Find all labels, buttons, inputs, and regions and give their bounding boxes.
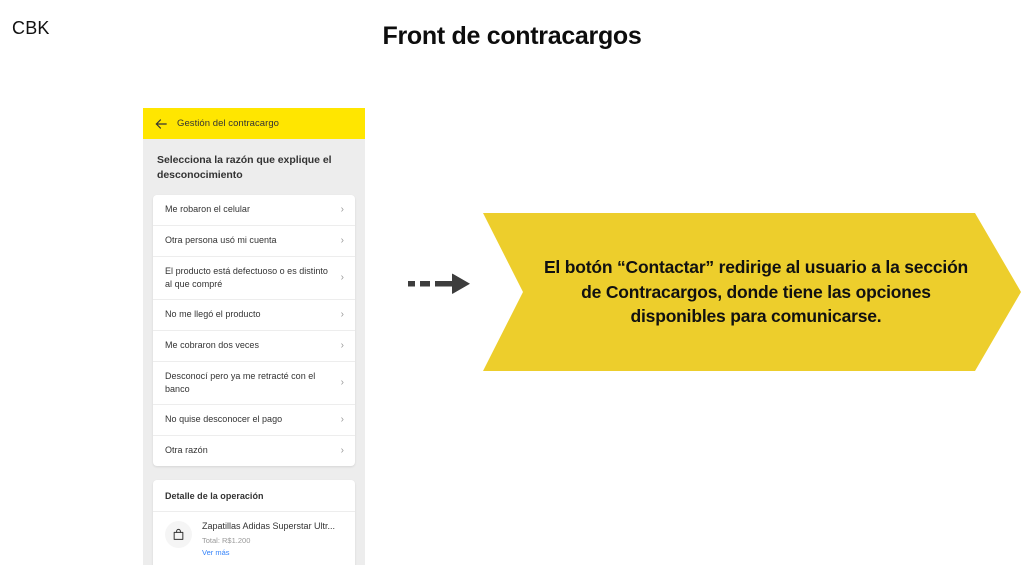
reason-label: No me llegó el producto [165, 308, 269, 321]
reason-label: Otra persona usó mi cuenta [165, 234, 285, 247]
reason-row[interactable]: No quise desconocer el pago › [153, 405, 355, 436]
shopping-bag-icon [172, 528, 185, 541]
item-thumbnail [165, 521, 192, 548]
operation-item-row[interactable]: Zapatillas Adidas Superstar Ultr... Tota… [153, 512, 355, 565]
item-name: Zapatillas Adidas Superstar Ultr... [202, 521, 335, 533]
item-texts: Zapatillas Adidas Superstar Ultr... Tota… [202, 521, 335, 558]
reason-row[interactable]: Me cobraron dos veces › [153, 331, 355, 362]
operation-detail-title: Detalle de la operación [153, 480, 355, 512]
reason-row[interactable]: Otra persona usó mi cuenta › [153, 226, 355, 257]
reason-label: Me cobraron dos veces [165, 339, 267, 352]
reason-row[interactable]: Me robaron el celular › [153, 195, 355, 226]
reason-question: Selecciona la razón que explique el desc… [143, 139, 365, 195]
dashed-arrow-right-icon [408, 272, 480, 296]
reasons-card: Me robaron el celular › Otra persona usó… [153, 195, 355, 466]
chevron-right-icon: › [341, 205, 344, 215]
phone-app-header: Gestión del contracargo [143, 108, 365, 139]
page-title: Front de contracargos [0, 22, 1024, 51]
phone-mockup: Gestión del contracargo Selecciona la ra… [143, 108, 365, 565]
see-more-link[interactable]: Ver más [202, 548, 335, 558]
reason-label: Me robaron el celular [165, 203, 258, 216]
reason-row[interactable]: Desconocí pero ya me retracté con el ban… [153, 362, 355, 405]
chevron-right-icon: › [341, 273, 344, 283]
chevron-right-icon: › [341, 236, 344, 246]
reason-label: Desconocí pero ya me retracté con el ban… [165, 370, 341, 396]
callout-banner: El botón “Contactar” redirige al usuario… [483, 213, 1021, 371]
reason-row[interactable]: El producto está defectuoso o es distint… [153, 257, 355, 300]
callout-text: El botón “Contactar” redirige al usuario… [543, 255, 969, 330]
phone-header-title: Gestión del contracargo [177, 118, 279, 129]
reason-label: Otra razón [165, 444, 216, 457]
callout-text-wrap: El botón “Contactar” redirige al usuario… [483, 213, 1021, 371]
chevron-right-icon: › [341, 341, 344, 351]
chevron-right-icon: › [341, 446, 344, 456]
chevron-right-icon: › [341, 378, 344, 388]
chevron-right-icon: › [341, 310, 344, 320]
reason-row[interactable]: No me llegó el producto › [153, 300, 355, 331]
item-total: Total: R$1.200 [202, 536, 335, 546]
chevron-right-icon: › [341, 415, 344, 425]
phone-body: Selecciona la razón que explique el desc… [143, 139, 365, 565]
arrow-left-icon[interactable] [154, 117, 168, 131]
operation-detail-card: Detalle de la operación Zapatillas Adida… [153, 480, 355, 565]
reason-label: El producto está defectuoso o es distint… [165, 265, 341, 291]
reason-label: No quise desconocer el pago [165, 413, 290, 426]
dashed-arrow-connector [408, 272, 480, 296]
reason-row[interactable]: Otra razón › [153, 436, 355, 466]
